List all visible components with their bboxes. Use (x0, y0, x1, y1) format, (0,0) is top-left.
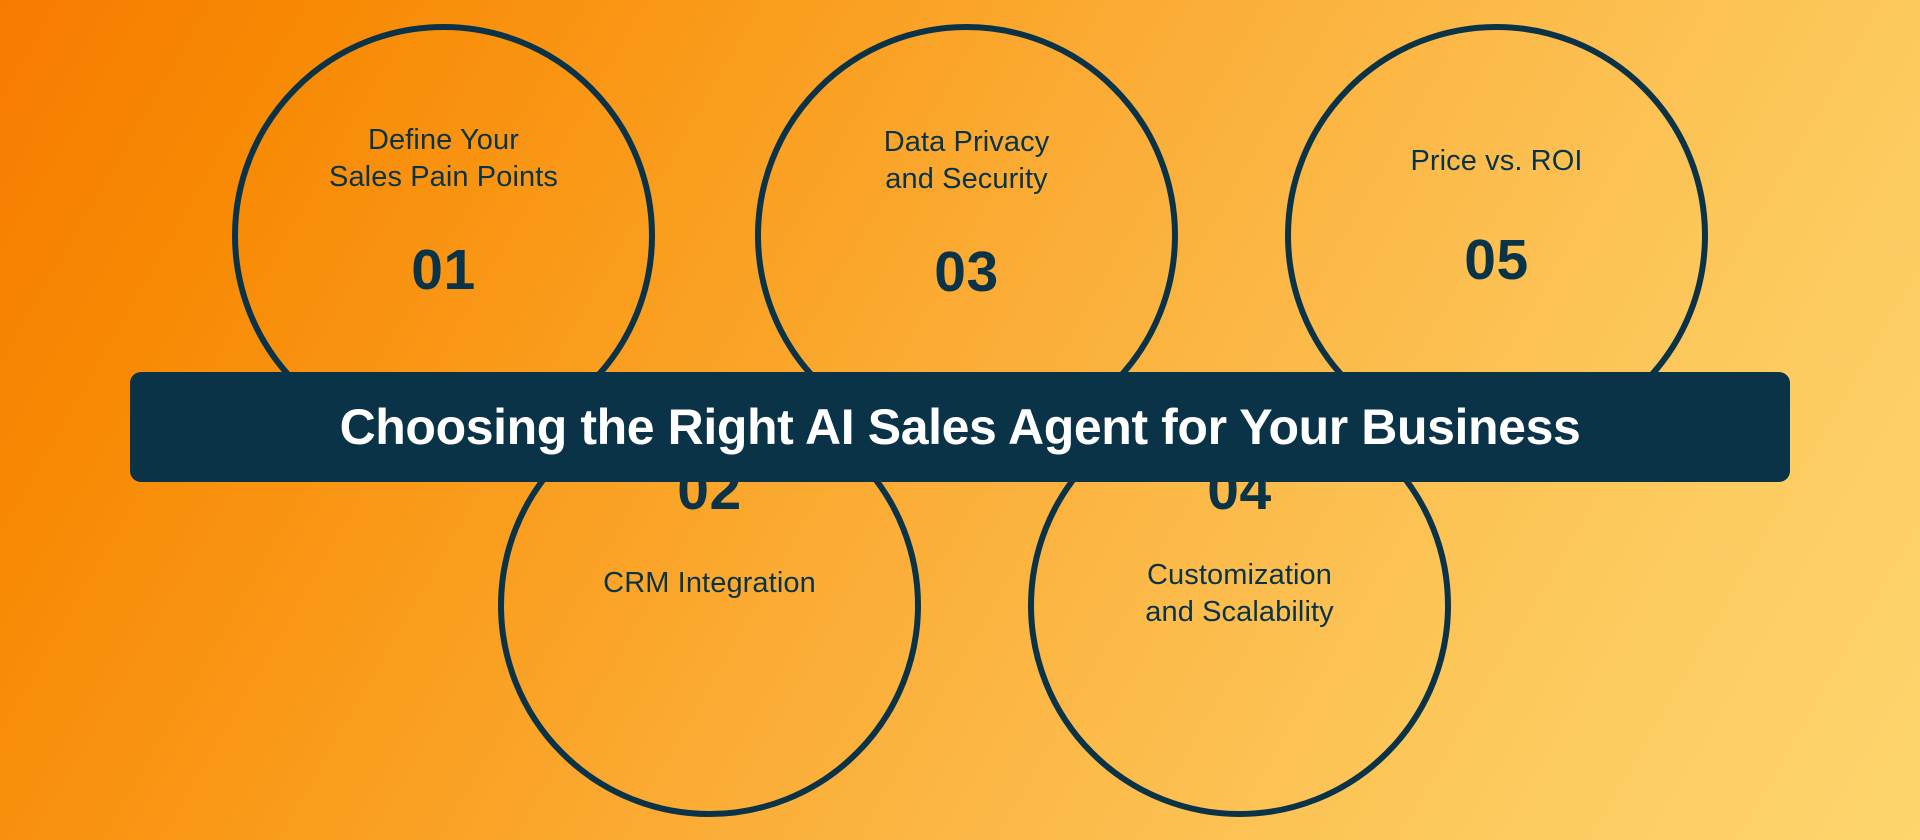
step-label-05: Price vs. ROI (1410, 143, 1582, 180)
infographic-canvas: Define Your Sales Pain Points 01 Data Pr… (0, 0, 1920, 840)
page-title: Choosing the Right AI Sales Agent for Yo… (340, 402, 1581, 452)
step-label-02: CRM Integration (603, 565, 816, 602)
step-label-03: Data Privacy and Security (884, 124, 1050, 198)
step-number-05: 05 (1464, 232, 1528, 289)
step-number-03: 03 (934, 244, 998, 301)
step-label-01: Define Your Sales Pain Points (329, 122, 558, 196)
step-number-01: 01 (411, 242, 475, 299)
step-label-04: Customization and Scalability (1145, 557, 1334, 631)
title-banner: Choosing the Right AI Sales Agent for Yo… (130, 372, 1790, 482)
